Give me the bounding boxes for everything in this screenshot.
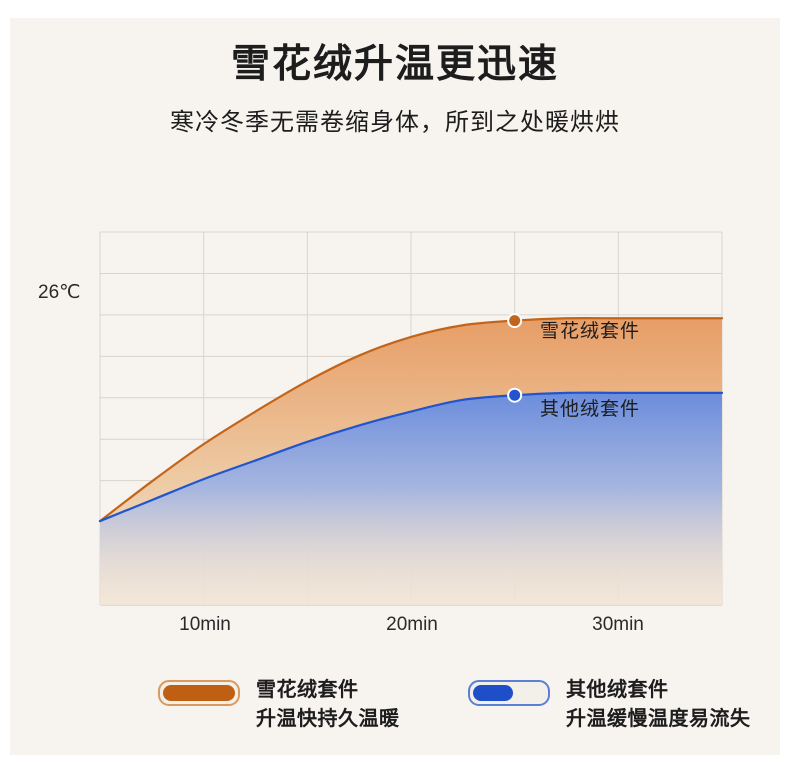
temperature-chart: 26℃ 雪花绒套件 其他绒套件 10min 20min 30min xyxy=(10,200,780,650)
legend-text-other: 其他绒套件 升温缓慢温度易流失 xyxy=(566,676,751,734)
legend-desc-snowflake: 升温快持久温暖 xyxy=(256,705,400,734)
x-axis-tick-20min: 20min xyxy=(386,614,438,636)
legend-item-snowflake: 雪花绒套件 升温快持久温暖 xyxy=(158,676,400,734)
page-title: 雪花绒升温更迅速 xyxy=(10,18,780,88)
legend-text-snowflake: 雪花绒套件 升温快持久温暖 xyxy=(256,676,400,734)
chart-legend: 雪花绒套件 升温快持久温暖 其他绒套件 升温缓慢温度易流失 xyxy=(10,668,790,748)
x-axis-tick-10min: 10min xyxy=(179,614,231,636)
legend-swatch-fill xyxy=(163,685,235,701)
series-label-other: 其他绒套件 xyxy=(540,394,640,421)
legend-swatch-other-icon xyxy=(468,680,550,706)
legend-swatch-fill xyxy=(473,685,513,701)
legend-swatch-snowflake-icon xyxy=(158,680,240,706)
page-subtitle: 寒冷冬季无需卷缩身体，所到之处暖烘烘 xyxy=(10,88,780,137)
legend-title-other: 其他绒套件 xyxy=(566,676,751,705)
legend-desc-other: 升温缓慢温度易流失 xyxy=(566,705,751,734)
header: 雪花绒升温更迅速 寒冷冬季无需卷缩身体，所到之处暖烘烘 xyxy=(10,18,780,137)
chart-areas xyxy=(100,318,722,605)
page-container: 雪花绒升温更迅速 寒冷冬季无需卷缩身体，所到之处暖烘烘 xyxy=(10,18,780,755)
legend-title-snowflake: 雪花绒套件 xyxy=(256,676,400,705)
series-label-snowflake: 雪花绒套件 xyxy=(540,316,640,343)
legend-item-other: 其他绒套件 升温缓慢温度易流失 xyxy=(468,676,751,734)
chart-svg xyxy=(10,200,780,650)
y-axis-tick-26c: 26℃ xyxy=(38,281,80,304)
x-axis-tick-30min: 30min xyxy=(592,614,644,636)
